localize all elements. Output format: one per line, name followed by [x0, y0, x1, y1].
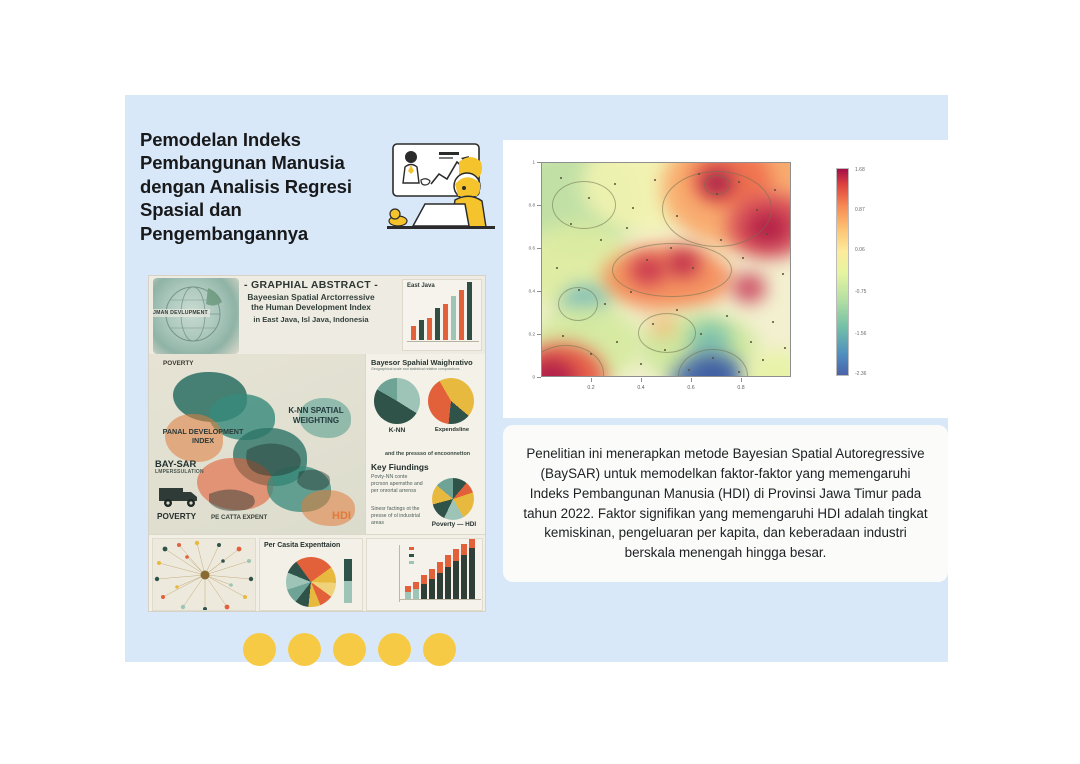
pager-dot-2[interactable]: [288, 633, 321, 666]
network-scatter-diagram: [152, 538, 256, 611]
colorbar-tick-label: -2.36: [855, 371, 866, 377]
ga-title-group: - GRAPHIAL ABSTRACT - Bayeesian Spatial …: [227, 279, 395, 324]
ga-pdi-label: PANAL DEVELOPMENT INDEX: [155, 428, 251, 446]
colorbar-tick-label: 1.68: [855, 167, 865, 173]
ga-analytics-subtitle: Geographical scale and statistical relat…: [371, 367, 483, 371]
ga-key-findings-title: Key Fiundings: [371, 462, 429, 472]
pager-dot-4[interactable]: [378, 633, 411, 666]
colorbar-tick-label: -1.56: [855, 331, 866, 337]
ga-east-java-barchart: East Java: [402, 279, 482, 351]
spatial-effect-chart-panel: 1 0.8 0.6 0.4 0.2 0 0.2 0.4 0.6 0.8: [503, 140, 948, 418]
colorbar-tick-label: 0.06: [855, 247, 865, 253]
y-tick-label: 0.8: [517, 203, 535, 208]
ga-analytics-column: Bayesor Spahial Waighrativo Geographical…: [365, 354, 486, 534]
y-tick-label: 0.4: [517, 289, 535, 294]
ga-poverty-tag: POVERTY: [163, 360, 194, 367]
ga-expenditure-label: PE CATTA EXPENT: [211, 514, 267, 521]
ga-pie-expenditure-caption: Expendsline: [424, 427, 480, 433]
colorbar-tick-label: 0.87: [855, 207, 865, 213]
page-title: Pemodelan Indeks Pembangunan Manusia den…: [140, 128, 370, 245]
y-tick-label: 0: [517, 375, 535, 380]
ga-pie-knn: [374, 378, 420, 424]
ga-knn-spatial-weighting-label: K-NN SPATIAL WEIGHTING: [277, 406, 355, 426]
stacked-bar-chart: [366, 538, 483, 611]
y-tick-label: 0.6: [517, 246, 535, 251]
colorbar-tick-label: -0.75: [855, 289, 866, 295]
ga-percapita-pie: [286, 557, 336, 607]
poster-card: Pemodelan Indeks Pembangunan Manusia den…: [125, 95, 948, 662]
pager-dots[interactable]: [243, 633, 456, 666]
presenter-with-laptop-illustration: [381, 138, 501, 248]
ga-pie-poverty-hdi: [432, 478, 474, 520]
truck-icon: [157, 482, 203, 508]
x-tick-label: 0.6: [679, 385, 703, 391]
ga-percapita-title: Per Casita Expenttaion: [264, 542, 340, 549]
ga-finding-1: Povty-NN conte prcrson apemstho and per …: [371, 474, 425, 496]
ga-indonesia-map: POVERTY PANAL DEVELOPMENT INDEX BAY-SAR …: [149, 354, 365, 534]
ga-hdi-label: HDI: [332, 510, 351, 522]
ga-pie-poverty-hdi-caption: Poverty — HDI: [428, 521, 480, 528]
ga-header-band: JMAN DEVLUPMENT - GRAPHIAL ABSTRACT - Ba…: [149, 276, 485, 354]
pager-dot-1[interactable]: [243, 633, 276, 666]
ga-poverty-bottom-label: POVERTY: [157, 512, 196, 521]
ga-abstract-line1: Bayeesian Spatial Arctorressive: [227, 292, 395, 302]
ga-abstract-line2: the Human Development Index: [227, 303, 395, 312]
x-tick-label: 0.8: [729, 385, 753, 391]
ga-finding-2: Sinesr factings ot the presse of ol indu…: [371, 506, 425, 528]
heatmap-plot-area: [541, 162, 791, 377]
x-tick-label: 0.4: [629, 385, 653, 391]
y-tick-label: 0.2: [517, 332, 535, 337]
left-column: Pemodelan Indeks Pembangunan Manusia den…: [138, 120, 488, 620]
ga-abstract-line3: in East Java, Isl Java, Indonesia: [227, 315, 395, 324]
ga-east-java-label: East Java: [407, 283, 435, 289]
x-tick-label: 0.2: [579, 385, 603, 391]
pager-dot-5[interactable]: [423, 633, 456, 666]
ga-pie-expenditure: [428, 378, 474, 424]
ga-percapita-panel: Per Casita Expenttaion: [259, 538, 363, 611]
chart-inner: 1 0.8 0.6 0.4 0.2 0 0.2 0.4 0.6 0.8: [503, 140, 948, 418]
y-tick-label: 1: [517, 160, 535, 165]
pager-dot-3[interactable]: [333, 633, 366, 666]
ga-baysar-label: BAY-SAR: [155, 458, 196, 469]
summary-panel: Penelitian ini menerapkan metode Bayesia…: [503, 425, 948, 582]
ga-abstract-title: - GRAPHIAL ABSTRACT -: [227, 279, 395, 291]
ga-pie-knn-caption: K-NN: [374, 427, 420, 434]
summary-text: Penelitian ini menerapkan metode Bayesia…: [521, 444, 930, 563]
ga-bottom-band: Per Casita Expenttaion: [149, 534, 485, 612]
ga-baysar-sublabel: LMPERSSULATION: [155, 469, 204, 475]
ga-globe-label: JMAN DEVLUPMENT: [151, 309, 210, 317]
ga-analytics-title: Bayesor Spahial Waighrativo: [371, 358, 473, 367]
colorbar: [836, 168, 849, 376]
graphical-abstract-image: JMAN DEVLUPMENT - GRAPHIAL ABSTRACT - Ba…: [148, 275, 486, 612]
ga-pie-note: and the pressso of encoonnetton: [370, 451, 485, 457]
